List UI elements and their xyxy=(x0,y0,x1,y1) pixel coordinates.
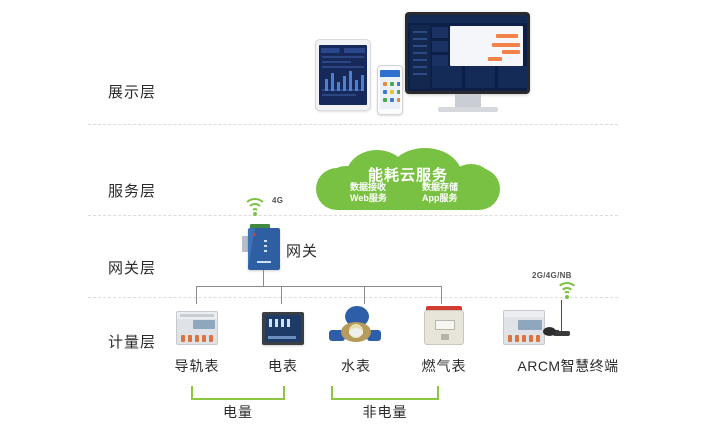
gateway-label: 网关 xyxy=(286,240,318,261)
bus-drop-3 xyxy=(364,286,365,304)
gateway-wireless-label: 4G xyxy=(272,196,283,205)
wifi-icon xyxy=(243,196,269,216)
layer-separator-1 xyxy=(88,124,618,125)
meter-label-gas: 燃气表 xyxy=(404,356,484,376)
layer-label-display: 展示层 xyxy=(108,81,194,102)
layer-separator-2 xyxy=(88,215,618,216)
meter-label-din: 导轨表 xyxy=(157,356,237,376)
monitor-stand xyxy=(455,94,481,107)
wifi-icon xyxy=(556,280,580,298)
bus-drop-4 xyxy=(441,286,442,304)
map-panel xyxy=(450,26,523,66)
cloud-service-web: Web服务 xyxy=(350,193,387,204)
architecture-diagram: 展示层 服务层 网关层 计量层 xyxy=(0,0,715,443)
bus-drop-2 xyxy=(281,286,282,304)
smartphone-icon xyxy=(377,65,403,115)
desktop-monitor-icon xyxy=(405,12,530,94)
gateway-bus-stem xyxy=(263,270,264,286)
display-devices-group xyxy=(305,12,530,117)
gateway-bus-horizontal xyxy=(196,286,441,287)
bracket-label-electricity: 电量 xyxy=(191,402,285,422)
bus-drop-1 xyxy=(196,286,197,304)
arcm-terminal-icon xyxy=(503,310,545,345)
cloud-service-data-receive: 数据接收 xyxy=(350,182,387,193)
bracket-non-electricity xyxy=(331,386,439,400)
gateway-power-led xyxy=(253,233,256,236)
layer-separator-3 xyxy=(88,297,618,298)
cloud-service-data-storage: 数据存储 xyxy=(422,182,458,193)
layer-label-service: 服务层 xyxy=(108,180,194,201)
cloud-service-shape: 能耗云服务 数据接收 Web服务 数据存储 App服务 xyxy=(316,148,500,210)
cloud-service-app: App服务 xyxy=(422,193,458,204)
monitor-base xyxy=(438,107,498,112)
bracket-electricity xyxy=(191,386,285,400)
bracket-label-non-electricity: 非电量 xyxy=(331,402,439,422)
tablet-icon xyxy=(315,39,371,111)
arcm-terminal-label: ARCM智慧终端 xyxy=(498,356,638,376)
layer-label-gateway: 网关层 xyxy=(108,257,194,278)
meter-label-electric: 电表 xyxy=(243,356,323,376)
meter-label-water: 水表 xyxy=(316,356,396,376)
cloud-title: 能耗云服务 xyxy=(316,164,500,185)
din-rail-meter-icon xyxy=(176,311,218,345)
cloud-left-services: 数据接收 Web服务 xyxy=(350,182,387,204)
cloud-right-services: 数据存储 App服务 xyxy=(422,182,458,204)
panel-electric-meter-icon xyxy=(262,312,304,345)
arcm-wireless-label: 2G/4G/NB xyxy=(532,271,572,280)
